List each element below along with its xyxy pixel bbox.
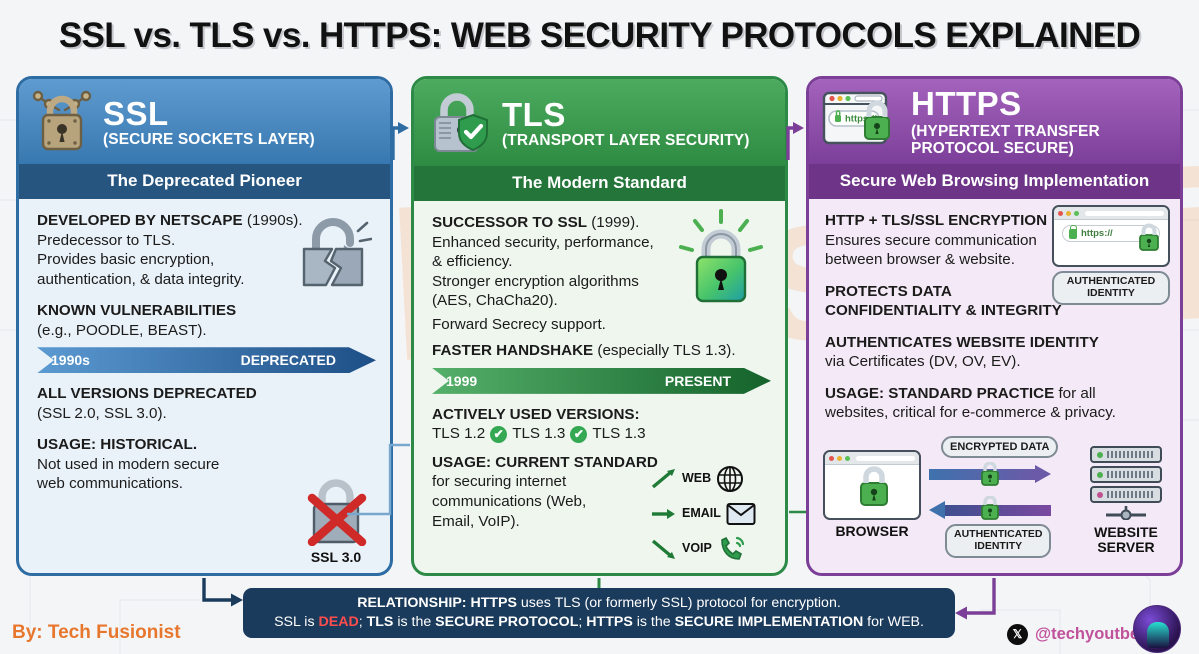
handle-text: @techyoutbe <box>1035 625 1139 644</box>
relationship-line1-rest: uses TLS (or formerly SSL) protocol for … <box>517 595 841 611</box>
https-b0-heading: HTTP + TLS/SSL ENCRYPTION <box>825 212 1047 229</box>
server-stack-icon: WEBSITE SERVER <box>1090 446 1162 556</box>
ssl-b1-heading: KNOWN VULNERABILITIES <box>37 302 236 319</box>
column-https: https:// HTTPS (HYPERTEXT TRANSFER PROTO… <box>806 76 1183 576</box>
broken-padlock-icon <box>294 209 372 302</box>
rel-l2-e: is the <box>633 614 675 630</box>
rel-l2-secure-impl: SECURE IMPLEMENTATION <box>675 614 864 630</box>
rel-l2-tls: TLS <box>367 614 394 630</box>
globe-icon <box>716 465 744 493</box>
relationship-bar: RELATIONSHIP: HTTPS uses TLS (or formerl… <box>243 588 955 638</box>
https-b2-heading: AUTHENTICATES WEBSITE IDENTITY <box>825 334 1099 351</box>
tls-versions-block: ACTIVELY USED VERSIONS: TLS 1.2 ✔ TLS 1.… <box>432 406 771 444</box>
https-b3-tail: for all <box>1054 385 1095 402</box>
tls-body: SUCCESSOR TO SSL (1999). Enhanced securi… <box>414 201 785 573</box>
tls-channel-1-label: EMAIL <box>682 507 721 521</box>
https-header: https:// HTTPS (HYPERTEXT TRANSFER PROTO… <box>809 79 1180 164</box>
server-vent <box>1107 451 1155 458</box>
window-maximize-dot <box>845 456 850 461</box>
ssl-b2-heading: ALL VERSIONS DEPRECATED <box>37 385 257 402</box>
rel-l2-https: HTTPS <box>586 614 633 630</box>
tls-b1-tail: (especially TLS 1.3). <box>593 342 735 359</box>
window-maximize-dot <box>1074 211 1079 216</box>
deprecated-ssl3-lock-icon: SSL 3.0 <box>300 472 372 565</box>
green-padlock-icon <box>979 496 1001 520</box>
diagram-server-label-l2: SERVER <box>1090 540 1162 555</box>
https-block-2: AUTHENTICATES WEBSITE IDENTITY via Certi… <box>825 334 1166 372</box>
check-icon: ✔ <box>570 426 587 443</box>
https-band: Secure Web Browsing Implementation <box>809 164 1180 199</box>
browser-url-text: https:// <box>1081 228 1113 239</box>
rel-l2-dead: DEAD <box>318 614 358 630</box>
relationship-line-1: RELATIONSHIP: HTTPS uses TLS (or formerl… <box>243 594 955 613</box>
page-title: SSL vs. TLS vs. HTTPS: WEB SECURITY PROT… <box>0 16 1199 56</box>
tls-usage-heading: USAGE: CURRENT STANDARD <box>432 454 658 471</box>
ssl-body: DEVELOPED BY NETSCAPE (1990s). Predecess… <box>19 199 390 573</box>
chained-padlock-icon <box>31 87 93 158</box>
ssl-b1-l0: (e.g., POODLE, BEAST). <box>37 322 376 341</box>
tls-version-2: TLS 1.3 <box>592 425 645 444</box>
ssl-timeline: 1990s DEPRECATED <box>37 347 376 373</box>
server-unit <box>1090 446 1162 463</box>
tls-b0-tail: (1999). <box>587 214 639 231</box>
https-expansion-line2: PROTOCOL SECURE) <box>911 140 1100 157</box>
https-title: HTTPS <box>911 87 1100 121</box>
green-padlock-icon <box>979 462 1001 486</box>
tls-channel-0-label: WEB <box>682 472 711 486</box>
byline: By: Tech Fusionist <box>12 622 181 644</box>
ssl-block-1: KNOWN VULNERABILITIES (e.g., POODLE, BEA… <box>37 302 376 340</box>
https-b3-heading: USAGE: STANDARD PRACTICE <box>825 385 1054 402</box>
rel-l2-b: ; <box>359 614 367 630</box>
tls-b1-heading: FASTER HANDSHAKE <box>432 342 593 359</box>
ssl-band: The Deprecated Pioneer <box>19 164 390 199</box>
server-stand <box>1090 506 1162 520</box>
ssl-b0-heading: DEVELOPED BY NETSCAPE <box>37 212 243 229</box>
authenticated-identity-badge: AUTHENTICATED IDENTITY <box>1052 271 1170 305</box>
green-padlock-icon <box>825 465 921 517</box>
server-unit <box>1090 486 1162 503</box>
window-minimize-dot <box>1066 211 1071 216</box>
tls-block-1: FASTER HANDSHAKE (especially TLS 1.3). <box>432 342 771 361</box>
ssl-timeline-end: DEPRECATED <box>241 352 336 368</box>
server-led <box>1097 472 1103 478</box>
encrypted-data-callout: ENCRYPTED DATA <box>941 436 1058 458</box>
column-tls: TLS (TRANSPORT LAYER SECURITY) The Moder… <box>411 76 788 576</box>
browser-https-padlock-icon: https:// <box>821 87 901 158</box>
ssl-header: SSL (SECURE SOCKETS LAYER) <box>19 79 390 164</box>
relationship-line-2: SSL is DEAD; TLS is the SECURE PROTOCOL;… <box>243 613 955 632</box>
phone-signal-icon <box>717 535 747 563</box>
padlock-shield-check-icon <box>426 87 492 160</box>
diagram-server-label-l1: WEBSITE <box>1090 525 1162 540</box>
server-unit <box>1090 466 1162 483</box>
window-minimize-dot <box>837 456 842 461</box>
tls-timeline-start: 1999 <box>446 373 477 389</box>
tls-version-0: TLS 1.2 <box>432 425 485 444</box>
window-close-dot <box>1058 211 1063 216</box>
avatar <box>1133 605 1181 653</box>
tls-title: TLS <box>502 98 749 132</box>
ssl3-label: SSL 3.0 <box>300 549 372 565</box>
window-close-dot <box>829 456 834 461</box>
tls-timeline: 1999 PRESENT <box>432 368 771 394</box>
tls-expansion: (TRANSPORT LAYER SECURITY) <box>502 133 749 149</box>
auth-callout-l1: AUTHENTICATED <box>954 528 1042 540</box>
https-expansion-line1: (HYPERTEXT TRANSFER <box>911 123 1100 140</box>
browser-titlebar <box>1054 207 1168 220</box>
server-led <box>1097 452 1103 458</box>
social-handle[interactable]: 𝕏 @techyoutbe <box>1007 624 1139 645</box>
tls-channels: WEB EMAIL VOIP <box>651 465 779 563</box>
arrow-right-icon <box>651 506 677 522</box>
rel-l2-f: for WEB. <box>863 614 924 630</box>
arrow-tip-left <box>929 501 945 519</box>
secure-padlock-glow-icon <box>673 207 769 316</box>
arrow-tip-right <box>1035 465 1051 483</box>
rel-l2-secure-protocol: SECURE PROTOCOL <box>435 614 578 630</box>
tls-timeline-end: PRESENT <box>665 373 731 389</box>
ssl-b2-l0: (SSL 2.0, SSL 3.0). <box>37 405 376 424</box>
badge-line1: AUTHENTICATED <box>1067 275 1155 287</box>
tls-channel-2-label: VOIP <box>682 542 712 556</box>
ssl-timeline-start: 1990s <box>51 352 90 368</box>
diagram-browser-label: BROWSER <box>823 524 921 539</box>
ssl-expansion: (SECURE SOCKETS LAYER) <box>103 132 315 148</box>
arrow-down-right-icon <box>651 538 677 560</box>
browser-tab-strip <box>856 456 915 461</box>
auth-callout-l2: IDENTITY <box>974 540 1022 552</box>
green-padlock-icon <box>1134 223 1164 253</box>
ssl-b3-heading: USAGE: HISTORICAL. <box>37 436 197 453</box>
browser-window: https:// <box>1052 205 1170 267</box>
ssl-block-2: ALL VERSIONS DEPRECATED (SSL 2.0, SSL 3.… <box>37 385 376 423</box>
tls-header: TLS (TRANSPORT LAYER SECURITY) <box>414 79 785 166</box>
server-led <box>1097 492 1103 498</box>
x-logo-icon: 𝕏 <box>1007 624 1028 645</box>
https-browser-card: https:// AUTHENTICATED IDENTITY <box>1052 205 1170 305</box>
authenticated-identity-callout: AUTHENTICATED IDENTITY <box>945 524 1051 558</box>
tls-version-1: TLS 1.3 <box>512 425 565 444</box>
lock-icon <box>1069 229 1077 239</box>
tls-b0-heading: SUCCESSOR TO SSL <box>432 214 587 231</box>
server-vent <box>1107 491 1155 498</box>
https-b3-l0: websites, critical for e-commerce & priv… <box>825 404 1166 423</box>
browser-tab-strip <box>1085 211 1164 216</box>
ssl-title: SSL <box>103 97 315 131</box>
tls-band: The Modern Standard <box>414 166 785 201</box>
https-body: HTTP + TLS/SSL ENCRYPTION Ensures secure… <box>809 199 1180 573</box>
https-b1-heading-l2: CONFIDENTIALITY & INTEGRITY <box>825 302 1062 319</box>
https-flow-diagram: BROWSER <box>819 432 1170 567</box>
server-vent <box>1107 471 1155 478</box>
column-ssl: SSL (SECURE SOCKETS LAYER) The Deprecate… <box>16 76 393 576</box>
diagram-browser-titlebar <box>825 452 919 465</box>
diagram-browser-window <box>823 450 921 520</box>
arrow-up-right-icon <box>651 468 677 490</box>
https-block-3: USAGE: STANDARD PRACTICE for all website… <box>825 385 1166 423</box>
tls-b0-l4: Forward Secrecy support. <box>432 316 771 335</box>
tls-versions-heading: ACTIVELY USED VERSIONS: <box>432 406 640 423</box>
rel-l2-a: SSL is <box>274 614 318 630</box>
encrypted-data-text: ENCRYPTED DATA <box>950 441 1049 453</box>
badge-line2: IDENTITY <box>1087 287 1135 299</box>
envelope-icon <box>726 502 756 526</box>
https-b2-l0: via Certificates (DV, OV, EV). <box>825 353 1166 372</box>
check-icon: ✔ <box>490 426 507 443</box>
relationship-line1-bold: RELATIONSHIP: HTTPS <box>357 595 517 611</box>
https-b1-heading-l1: PROTECTS DATA <box>825 283 952 300</box>
rel-l2-c: is the <box>393 614 435 630</box>
